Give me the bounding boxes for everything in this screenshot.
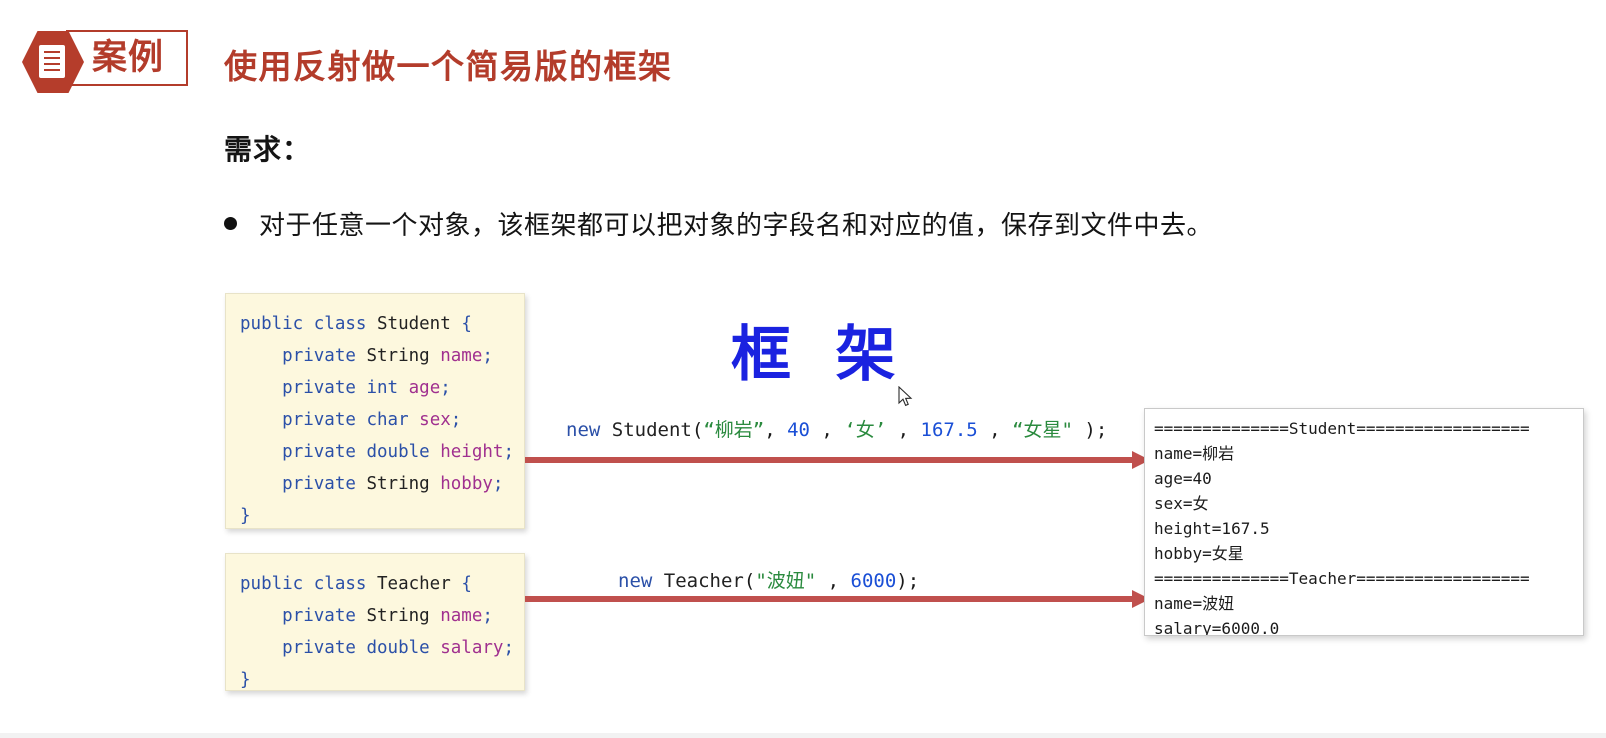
expression-token: “女星" — [1012, 419, 1073, 441]
code-token — [356, 606, 367, 626]
code-token — [240, 638, 282, 658]
code-line: } — [240, 500, 524, 532]
code-line: private String hobby; — [240, 468, 524, 500]
expression-token: 167.5 — [921, 419, 978, 441]
code-token: String — [366, 474, 429, 494]
expression-token: , — [764, 419, 787, 441]
output-line: salary=6000.0 — [1154, 616, 1583, 636]
output-line: name=柳岩 — [1154, 441, 1583, 466]
expression-token: ( — [744, 570, 755, 592]
code-line: public class Teacher { — [240, 568, 524, 600]
code-token: Student — [377, 314, 451, 334]
code-token: int — [366, 378, 398, 398]
expression-token: , — [978, 419, 1012, 441]
code-token: age — [409, 378, 441, 398]
code-token: ; — [451, 410, 462, 430]
arrow-student-to-output — [525, 455, 1150, 465]
expression-token: new — [566, 419, 600, 441]
console-output-panel: ==============Student==================n… — [1144, 408, 1584, 636]
code-token: class — [314, 574, 367, 594]
output-line: hobby=女星 — [1154, 541, 1583, 566]
code-token: height — [440, 442, 503, 462]
slide-header: 案例 使用反射做一个简易版的框架 — [0, 22, 1606, 104]
expression-token: ( — [692, 419, 703, 441]
code-token — [240, 346, 282, 366]
expression-token: , — [810, 419, 844, 441]
expression-token: "波妞" — [755, 570, 816, 592]
output-line: sex=女 — [1154, 491, 1583, 516]
code-token — [356, 442, 367, 462]
code-token: Teacher — [377, 574, 451, 594]
requirements-label: 需求： — [224, 128, 311, 168]
code-token — [356, 474, 367, 494]
code-token: private — [282, 346, 356, 366]
code-token: private — [282, 606, 356, 626]
code-token: ; — [482, 346, 493, 366]
code-line: private int age; — [240, 372, 524, 404]
code-token: private — [282, 474, 356, 494]
code-token — [356, 410, 367, 430]
code-token: name — [440, 606, 482, 626]
code-token — [366, 314, 377, 334]
code-token: } — [240, 670, 251, 690]
case-badge-label: 案例 — [78, 34, 178, 82]
expression-token: , — [816, 570, 850, 592]
code-token — [451, 574, 462, 594]
code-token — [430, 442, 441, 462]
expression-token: Student — [612, 419, 692, 441]
code-token: hobby — [440, 474, 493, 494]
output-line: height=167.5 — [1154, 516, 1583, 541]
code-token: public — [240, 314, 303, 334]
code-token — [240, 474, 282, 494]
code-token: name — [440, 346, 482, 366]
expression-token: 6000 — [851, 570, 897, 592]
code-token — [356, 638, 367, 658]
code-token: private — [282, 378, 356, 398]
code-token: private — [282, 442, 356, 462]
expression-token: , — [886, 419, 920, 441]
code-token — [398, 378, 409, 398]
code-line: private char sex; — [240, 404, 524, 436]
new-teacher-expression: new Teacher("波妞" , 6000); — [618, 566, 919, 593]
expression-token — [652, 570, 663, 592]
expression-token: Teacher — [664, 570, 744, 592]
code-token: { — [461, 314, 472, 334]
code-token: private — [282, 410, 356, 430]
output-line: ==============Teacher================== — [1154, 566, 1583, 591]
code-token — [240, 378, 282, 398]
arrow-shaft — [525, 596, 1133, 602]
framework-center-label: 框 架 — [731, 306, 910, 393]
code-token: ; — [493, 474, 504, 494]
code-token: salary — [440, 638, 503, 658]
code-token: String — [366, 606, 429, 626]
case-badge: 案例 — [22, 30, 190, 88]
code-block-teacher: public class Teacher { private String na… — [225, 553, 525, 691]
code-token — [303, 314, 314, 334]
code-token: ; — [503, 638, 514, 658]
expression-token: ); — [896, 570, 919, 592]
requirement-bullet-item: 对于任意一个对象，该框架都可以把对象的字段名和对应的值，保存到文件中去。 — [224, 205, 1213, 242]
expression-token: ); — [1073, 419, 1107, 441]
expression-token: ‘女’ — [844, 419, 886, 441]
code-token — [409, 410, 420, 430]
code-token: double — [366, 442, 429, 462]
expression-token: “柳岩” — [703, 419, 764, 441]
code-token — [356, 378, 367, 398]
code-token: String — [366, 346, 429, 366]
expression-token: new — [618, 570, 652, 592]
code-token — [451, 314, 462, 334]
code-line: private String name; — [240, 340, 524, 372]
new-student-expression: new Student(“柳岩”, 40 , ‘女’ , 167.5 , “女星… — [566, 415, 1107, 442]
code-token — [356, 346, 367, 366]
code-token: ; — [503, 442, 514, 462]
code-token — [366, 574, 377, 594]
code-token — [430, 638, 441, 658]
code-token: { — [461, 574, 472, 594]
code-line: } — [240, 664, 524, 696]
page-title: 使用反射做一个简易版的框架 — [224, 40, 673, 88]
code-token — [430, 346, 441, 366]
mouse-pointer-icon — [898, 386, 914, 408]
output-line: name=波妞 — [1154, 591, 1583, 616]
code-token: sex — [419, 410, 451, 430]
document-glyph — [39, 45, 65, 78]
code-token: private — [282, 638, 356, 658]
code-token — [240, 606, 282, 626]
expression-token: 40 — [787, 419, 810, 441]
code-token — [240, 442, 282, 462]
output-line: ==============Student================== — [1154, 416, 1583, 441]
code-token — [303, 574, 314, 594]
code-token: public — [240, 574, 303, 594]
code-token: ; — [440, 378, 451, 398]
code-token — [430, 474, 441, 494]
code-token: ; — [482, 606, 493, 626]
arrow-teacher-to-output — [525, 594, 1150, 604]
code-line: private double salary; — [240, 632, 524, 664]
bottom-bar — [0, 733, 1606, 738]
code-token: } — [240, 506, 251, 526]
expression-token — [600, 419, 611, 441]
arrow-shaft — [525, 457, 1133, 463]
code-line: private double height; — [240, 436, 524, 468]
code-line: public class Student { — [240, 308, 524, 340]
code-token: char — [366, 410, 408, 430]
code-token: double — [366, 638, 429, 658]
code-line: private String name; — [240, 600, 524, 632]
code-token: class — [314, 314, 367, 334]
requirement-bullet-text: 对于任意一个对象，该框架都可以把对象的字段名和对应的值，保存到文件中去。 — [259, 205, 1213, 242]
output-line: age=40 — [1154, 466, 1583, 491]
code-block-student: public class Student { private String na… — [225, 293, 525, 529]
code-token — [430, 606, 441, 626]
bullet-dot-icon — [224, 217, 237, 230]
code-token — [240, 410, 282, 430]
